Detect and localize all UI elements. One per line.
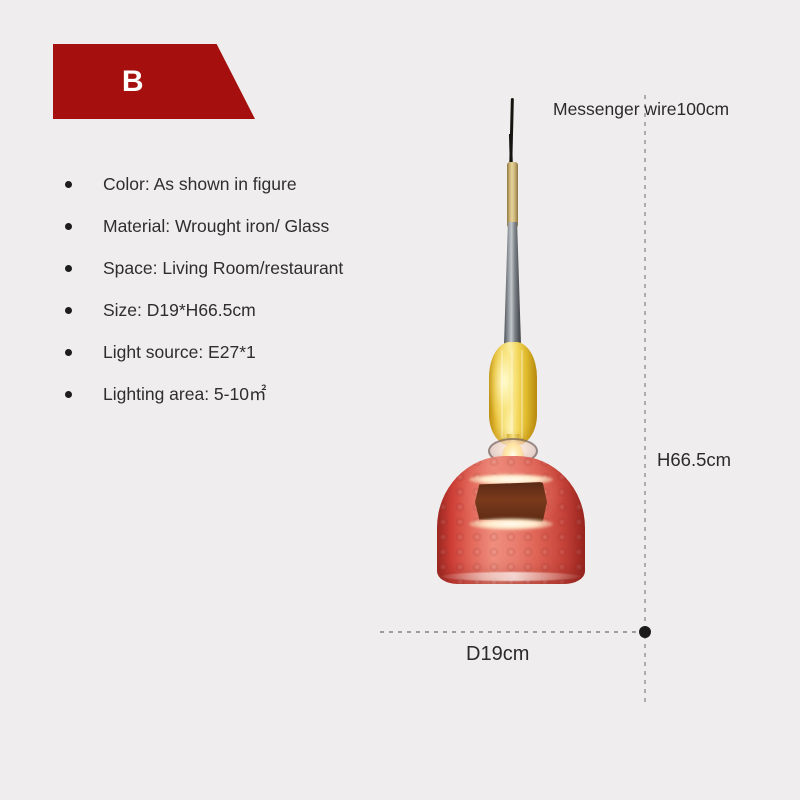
lamp-amber-glass-capsule: [489, 342, 537, 446]
vertical-dimension-guide-line: [644, 95, 646, 703]
spec-item-lighting-area: Lighting area: 5-10㎡: [60, 373, 460, 415]
diameter-dimension-label: D19cm: [466, 643, 529, 666]
bullet-dot-icon: [65, 307, 72, 314]
amber-glass-ridge: [511, 350, 513, 437]
lamp-metal-stem: [501, 222, 524, 352]
variant-banner-label: B: [53, 44, 213, 119]
shade-inner-bulb-core: [475, 482, 547, 522]
spec-item-material: Material: Wrought iron/ Glass: [60, 205, 460, 247]
shade-bottom-rim-highlight: [441, 572, 581, 581]
amber-glass-ridge: [501, 350, 503, 437]
pendant-lamp-image: [415, 90, 615, 600]
amber-glass-ridge: [521, 350, 523, 437]
bullet-dot-icon: [65, 223, 72, 230]
bullet-dot-icon: [65, 349, 72, 356]
spec-item-label: Size: D19*H66.5cm: [103, 300, 256, 320]
spec-item-label: Space: Living Room/restaurant: [103, 258, 343, 278]
spec-item-label: Color: As shown in figure: [103, 174, 297, 194]
lamp-hanging-cord: [509, 98, 514, 170]
dimension-origin-marker: [639, 626, 651, 638]
shade-glow-band-bottom: [469, 518, 553, 530]
horizontal-dimension-guide-line: [380, 631, 650, 633]
spec-item-label: Light source: E27*1: [103, 342, 256, 362]
specification-list: Color: As shown in figure Material: Wrou…: [60, 163, 460, 415]
lamp-brass-tube: [507, 162, 518, 228]
spec-item-space: Space: Living Room/restaurant: [60, 247, 460, 289]
spec-item-light-source: Light source: E27*1: [60, 331, 460, 373]
bullet-dot-icon: [65, 265, 72, 272]
spec-item-size: Size: D19*H66.5cm: [60, 289, 460, 331]
lamp-red-glass-shade: [437, 456, 585, 584]
spec-item-label: Material: Wrought iron/ Glass: [103, 216, 329, 236]
bullet-dot-icon: [65, 391, 72, 398]
spec-item-color: Color: As shown in figure: [60, 163, 460, 205]
height-dimension-label: H66.5cm: [657, 449, 731, 471]
spec-item-label: Lighting area: 5-10㎡: [103, 384, 266, 404]
variant-banner: B: [53, 44, 255, 119]
bullet-dot-icon: [65, 181, 72, 188]
